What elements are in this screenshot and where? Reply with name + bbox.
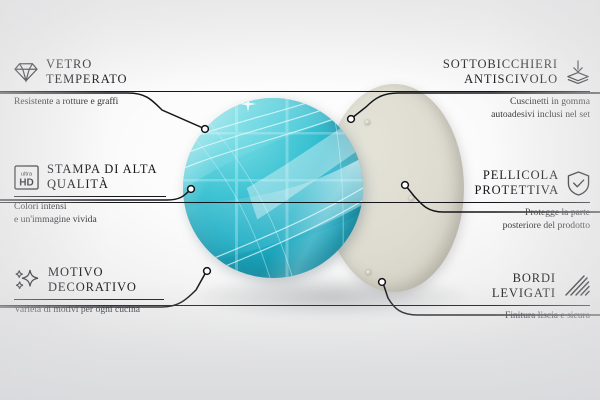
subtitle-line-2: posteriore del prodotto xyxy=(503,220,590,231)
title-line-1: MOTIVO xyxy=(48,265,103,279)
smooth-edges-icon xyxy=(564,274,590,298)
diamond-icon xyxy=(14,61,38,83)
subtitle-line-2: autoadesivi inclusi nel set xyxy=(491,109,590,120)
subtitle-line-2: e un'immagine vivida xyxy=(14,214,97,225)
rubber-pad xyxy=(366,270,371,275)
title-line-2: QUALITÀ xyxy=(47,177,109,191)
feature-stampa-alta-qualita: ultra HD STAMPA DI ALTA QUALITÀ Colori i… xyxy=(14,162,174,227)
feature-divider xyxy=(14,196,166,198)
title-line-2: PROTETTIVA xyxy=(475,183,559,197)
feature-subtitle: Resistente a rotture e graffi xyxy=(14,95,164,108)
title-line-1: VETRO xyxy=(46,57,92,71)
feature-subtitle: Colori intensi e un'immagine vivida xyxy=(14,200,174,226)
feature-header: BORDI LEVIGATI xyxy=(410,271,590,302)
feature-header: ultra HD STAMPA DI ALTA QUALITÀ xyxy=(14,162,174,193)
title-line-1: PELLICOLA xyxy=(483,168,559,182)
feature-divider xyxy=(0,91,590,93)
feature-pellicola-protettiva: PELLICOLA PROTETTIVA Protegge la parte p… xyxy=(410,168,590,233)
feature-bordi-levigati: BORDI LEVIGATI Finitura liscia e sicura xyxy=(410,271,590,322)
feature-title: STAMPA DI ALTA QUALITÀ xyxy=(47,162,157,193)
title-line-1: BORDI xyxy=(513,271,556,285)
feature-motivo-decorativo: MOTIVO DECORATIVO Varietà di motivi per … xyxy=(14,265,174,316)
feature-subtitle: Protegge la parte posteriore del prodott… xyxy=(410,206,590,232)
shield-check-icon xyxy=(567,171,590,196)
press-pad-icon xyxy=(566,60,590,84)
subtitle-line-1: Finitura liscia e sicura xyxy=(505,310,590,321)
subtitle-line-1: Cuscinetti in gomma xyxy=(510,96,590,107)
board-front-disc xyxy=(183,98,363,278)
feature-header: PELLICOLA PROTETTIVA xyxy=(410,168,590,199)
feature-title: PELLICOLA PROTETTIVA xyxy=(475,168,559,199)
svg-text:ultra: ultra xyxy=(21,171,33,177)
feature-divider xyxy=(0,202,590,204)
feature-title: SOTTOBICCHIERI ANTISCIVOLO xyxy=(443,57,558,88)
feature-sottobicchieri-antiscivolo: SOTTOBICCHIERI ANTISCIVOLO Cuscinetti in… xyxy=(410,57,590,122)
feature-subtitle: Cuscinetti in gomma autoadesivi inclusi … xyxy=(410,95,590,121)
title-line-1: SOTTOBICCHIERI xyxy=(443,57,558,71)
title-line-2: TEMPERATO xyxy=(46,72,128,86)
svg-text:HD: HD xyxy=(19,177,34,188)
subtitle-line-1: Resistente a rotture e graffi xyxy=(14,96,118,107)
feature-title: VETRO TEMPERATO xyxy=(46,57,128,88)
feature-header: SOTTOBICCHIERI ANTISCIVOLO xyxy=(410,57,590,88)
feature-header: MOTIVO DECORATIVO xyxy=(14,265,174,296)
feature-divider xyxy=(14,299,164,301)
sparkle-icon xyxy=(240,98,256,112)
rubber-pad xyxy=(365,120,370,125)
title-line-2: ANTISCIVOLO xyxy=(464,72,558,86)
ultra-hd-icon: ultra HD xyxy=(14,165,39,190)
subtitle-line-1: Protegge la parte xyxy=(525,207,590,218)
feature-title: BORDI LEVIGATI xyxy=(492,271,556,302)
title-line-2: DECORATIVO xyxy=(48,280,137,294)
feature-vetro-temperato: VETRO TEMPERATO Resistente a rotture e g… xyxy=(14,57,164,108)
feature-title: MOTIVO DECORATIVO xyxy=(48,265,137,296)
feature-header: VETRO TEMPERATO xyxy=(14,57,164,88)
infographic-canvas: VETRO TEMPERATO Resistente a rotture e g… xyxy=(0,0,600,400)
title-line-2: LEVIGATI xyxy=(492,286,556,300)
title-line-1: STAMPA DI ALTA xyxy=(47,162,157,176)
feature-divider xyxy=(0,305,590,307)
sparkles-icon xyxy=(14,268,40,292)
glass-gloss xyxy=(183,98,363,278)
feature-subtitle: Finitura liscia e sicura xyxy=(410,309,590,322)
